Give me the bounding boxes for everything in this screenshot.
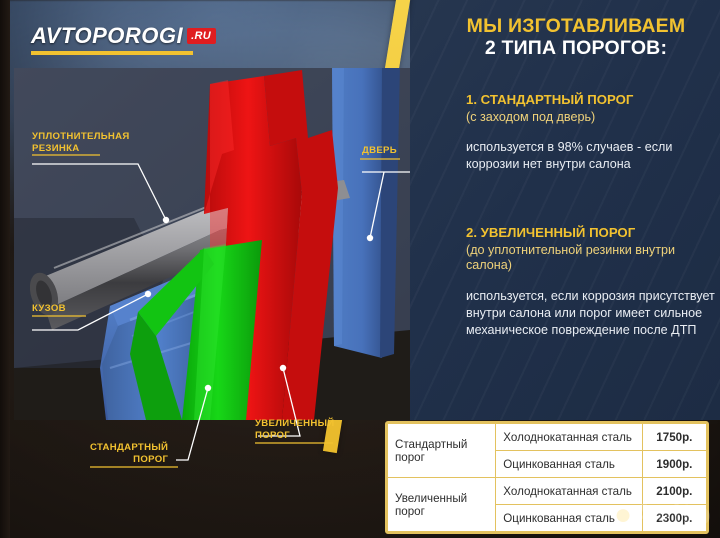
headline-line-2: 2 ТИПА ПОРОГОВ:	[440, 38, 712, 60]
sill-type-block-enlarged: 2. УВЕЛИЧЕННЫЙ ПОРОГ (до уплотнительной …	[466, 225, 716, 339]
sill-enlarged-description: используется, если коррозия присутствует…	[466, 288, 716, 339]
sill-cross-section-diagram	[14, 68, 410, 420]
label-seal-rubber: УПЛОТНИТЕЛЬНАЯ РЕЗИНКА	[32, 131, 130, 154]
label-enlarged-sill: УВЕЛИЧЕННЫЙ ПОРОГ	[255, 418, 335, 441]
sill-enlarged-title: 2. УВЕЛИЧЕННЫЙ ПОРОГ	[466, 225, 716, 242]
price-value: 1750р.	[642, 424, 706, 451]
promo-image: МЫ ИЗГОТАВЛИВАЕМ 2 ТИПА ПОРОГОВ: 1. СТАН…	[0, 0, 720, 538]
label-door: ДВЕРЬ	[362, 145, 397, 157]
diagram-svg	[14, 68, 410, 420]
page-title: МЫ ИЗГОТАВЛИВАЕМ 2 ТИПА ПОРОГОВ:	[440, 16, 712, 60]
price-material: Холоднокатанная сталь	[496, 424, 642, 451]
headline-line-1: МЫ ИЗГОТАВЛИВАЕМ	[440, 16, 712, 38]
table-row: Увеличенный порог Холоднокатанная сталь …	[388, 478, 707, 505]
price-value: 2100р.	[642, 478, 706, 505]
price-category-standard: Стандартный порог	[388, 424, 496, 478]
left-edge-shadow	[0, 0, 10, 538]
price-value: 1900р.	[642, 451, 706, 478]
price-table: Стандартный порог Холоднокатанная сталь …	[385, 421, 709, 534]
brand-underline	[31, 51, 193, 55]
sill-enlarged-subtitle: (до уплотнительной резинки внутри салона…	[466, 243, 716, 275]
info-panel	[410, 0, 720, 420]
table-row: Стандартный порог Холоднокатанная сталь …	[388, 424, 707, 451]
price-material: Оцинкованная сталь	[496, 505, 642, 532]
label-car-body: КУЗОВ	[32, 303, 66, 315]
label-standard-sill: СТАНДАРТНЫЙ ПОРОГ	[90, 442, 168, 465]
brand-logo[interactable]: AVTOPOROGI .RU	[31, 23, 216, 55]
brand-logo-row: AVTOPOROGI .RU	[31, 23, 216, 49]
sill-standard-description: используется в 98% случаев - если корроз…	[466, 139, 716, 173]
sill-type-block-standard: 1. СТАНДАРТНЫЙ ПОРОГ (с заходом под двер…	[466, 92, 716, 173]
sill-standard-title: 1. СТАНДАРТНЫЙ ПОРОГ	[466, 92, 716, 109]
price-material: Оцинкованная сталь	[496, 451, 642, 478]
price-value: 2300р.	[642, 505, 706, 532]
brand-name: AVTOPOROGI	[31, 23, 183, 49]
sill-standard-subtitle: (с заходом под дверь)	[466, 110, 716, 126]
price-category-enlarged: Увеличенный порог	[388, 478, 496, 532]
price-material: Холоднокатанная сталь	[496, 478, 642, 505]
info-panel-clip	[410, 0, 720, 420]
brand-tld-badge: .RU	[187, 28, 216, 44]
